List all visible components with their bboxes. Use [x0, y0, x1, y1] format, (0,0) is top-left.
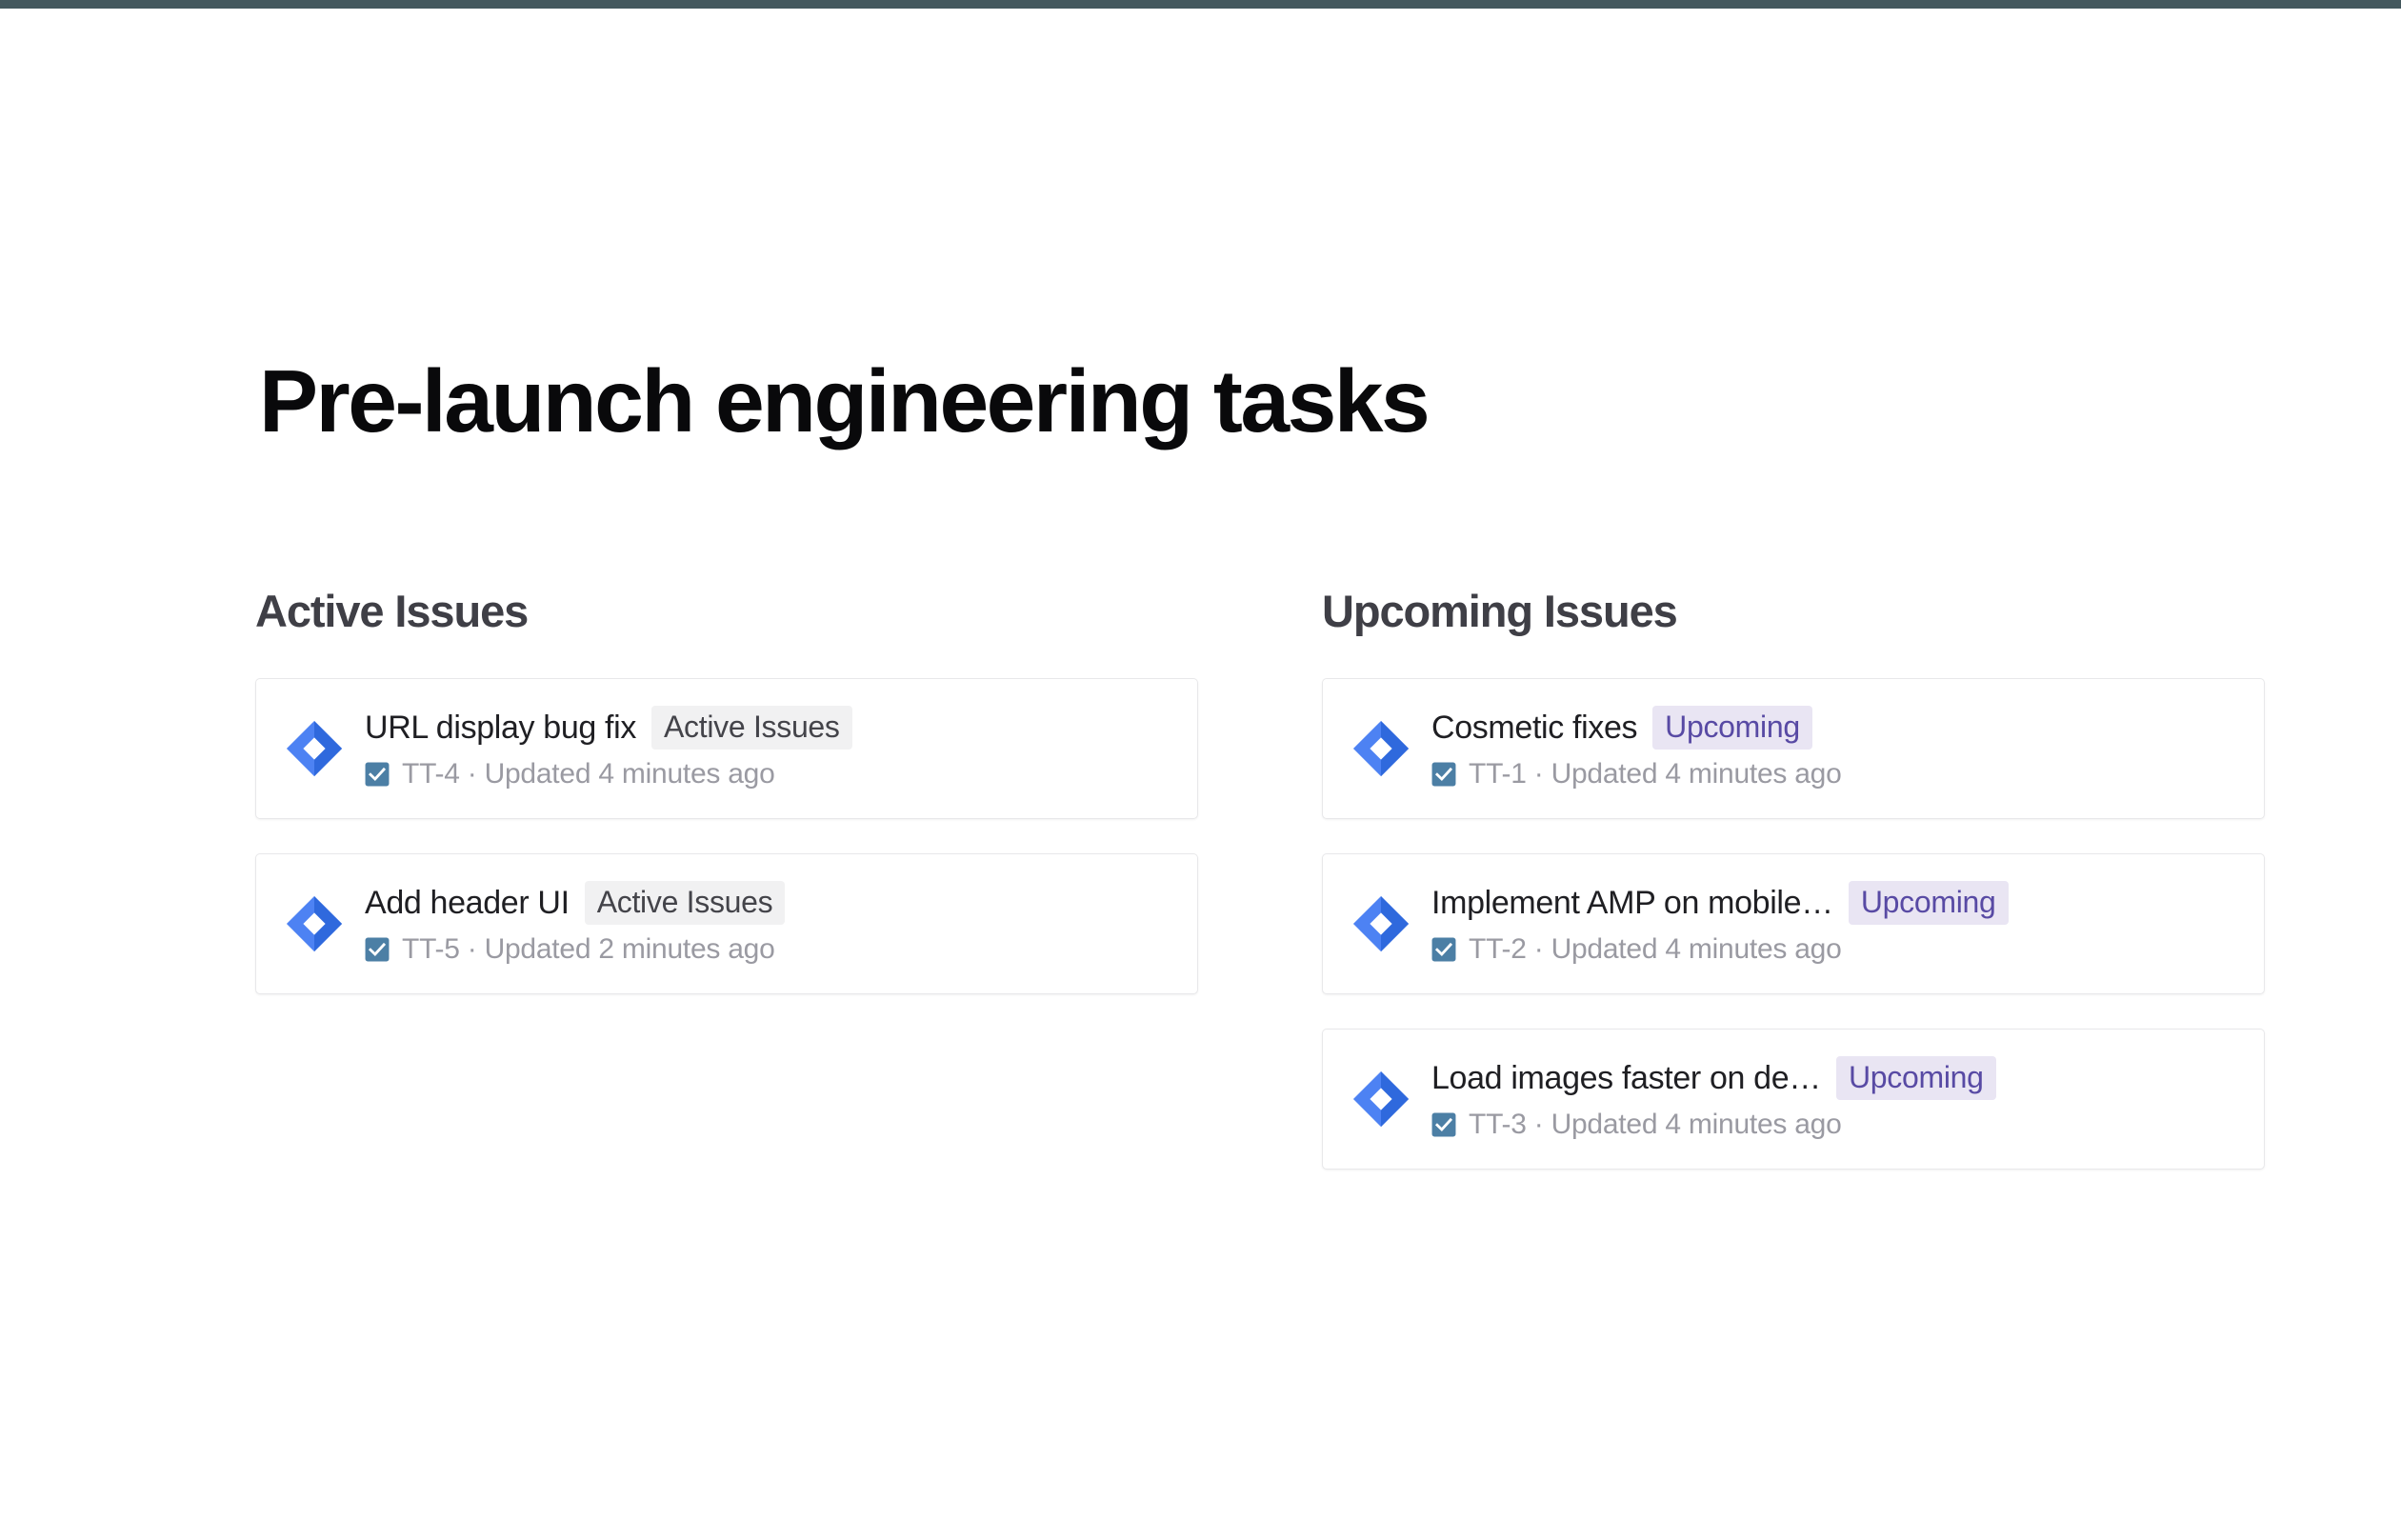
top-accent-bar [0, 0, 2401, 9]
issue-card-title-row: URL display bug fix Active Issues [365, 706, 1172, 750]
issue-card-body: Load images faster on de… Upcoming TT-3 … [1431, 1056, 2239, 1143]
issue-card-title-row: Cosmetic fixes Upcoming [1431, 706, 2239, 750]
status-badge: Upcoming [1652, 706, 1812, 750]
issue-card-meta-row: TT-1 · Updated 4 minutes ago [1431, 756, 2239, 792]
issue-card-body: URL display bug fix Active Issues TT-4 ·… [365, 706, 1172, 792]
checkbox-checked-icon [1431, 1112, 1456, 1137]
issue-card[interactable]: Add header UI Active Issues TT-5 · Updat… [255, 853, 1198, 994]
issue-title: Cosmetic fixes [1431, 707, 1637, 749]
jira-issue-diamond-icon [1351, 894, 1411, 953]
status-badge: Upcoming [1836, 1056, 1996, 1100]
issue-card-body: Add header UI Active Issues TT-5 · Updat… [365, 881, 1172, 968]
jira-issue-diamond-icon [1351, 719, 1411, 778]
issue-card-title-row: Implement AMP on mobile… Upcoming [1431, 881, 2239, 925]
issue-meta: TT-2 · Updated 4 minutes ago [1469, 931, 1842, 968]
issue-card-body: Implement AMP on mobile… Upcoming TT-2 ·… [1431, 881, 2239, 968]
jira-issue-diamond-icon [285, 894, 344, 953]
issue-card-meta-row: TT-4 · Updated 4 minutes ago [365, 756, 1172, 792]
jira-issue-diamond-icon [285, 719, 344, 778]
issue-card[interactable]: Cosmetic fixes Upcoming TT-1 · Updated 4… [1322, 678, 2265, 819]
column-heading-active: Active Issues [255, 585, 1198, 638]
issue-title: Load images faster on de… [1431, 1057, 1821, 1099]
issue-title: Implement AMP on mobile… [1431, 882, 1833, 924]
checkbox-checked-icon [365, 762, 390, 787]
issue-title: Add header UI [365, 882, 570, 924]
page-title: Pre-launch engineering tasks [259, 353, 1428, 449]
checkbox-checked-icon [365, 937, 390, 962]
issue-card-meta-row: TT-5 · Updated 2 minutes ago [365, 931, 1172, 968]
status-badge: Upcoming [1849, 881, 2009, 925]
column-heading-upcoming: Upcoming Issues [1322, 585, 2265, 638]
column-upcoming-issues: Upcoming Issues Cosmetic fixes Upcoming … [1322, 585, 2265, 1204]
issue-card[interactable]: Implement AMP on mobile… Upcoming TT-2 ·… [1322, 853, 2265, 994]
column-active-issues: Active Issues URL display bug fix Active… [255, 585, 1198, 1029]
checkbox-checked-icon [1431, 762, 1456, 787]
issue-card[interactable]: URL display bug fix Active Issues TT-4 ·… [255, 678, 1198, 819]
issue-card[interactable]: Load images faster on de… Upcoming TT-3 … [1322, 1029, 2265, 1170]
issue-card-title-row: Add header UI Active Issues [365, 881, 1172, 925]
issue-card-body: Cosmetic fixes Upcoming TT-1 · Updated 4… [1431, 706, 2239, 792]
issue-meta: TT-5 · Updated 2 minutes ago [402, 931, 775, 968]
issue-card-meta-row: TT-2 · Updated 4 minutes ago [1431, 931, 2239, 968]
status-badge: Active Issues [585, 881, 786, 925]
jira-issue-diamond-icon [1351, 1070, 1411, 1129]
issue-card-title-row: Load images faster on de… Upcoming [1431, 1056, 2239, 1100]
issue-meta: TT-3 · Updated 4 minutes ago [1469, 1107, 1842, 1143]
issue-meta: TT-1 · Updated 4 minutes ago [1469, 756, 1842, 792]
checkbox-checked-icon [1431, 937, 1456, 962]
issue-card-meta-row: TT-3 · Updated 4 minutes ago [1431, 1107, 2239, 1143]
issue-title: URL display bug fix [365, 707, 636, 749]
issue-meta: TT-4 · Updated 4 minutes ago [402, 756, 775, 792]
page-canvas: Pre-launch engineering tasks Active Issu… [0, 9, 2401, 1540]
status-badge: Active Issues [651, 706, 852, 750]
